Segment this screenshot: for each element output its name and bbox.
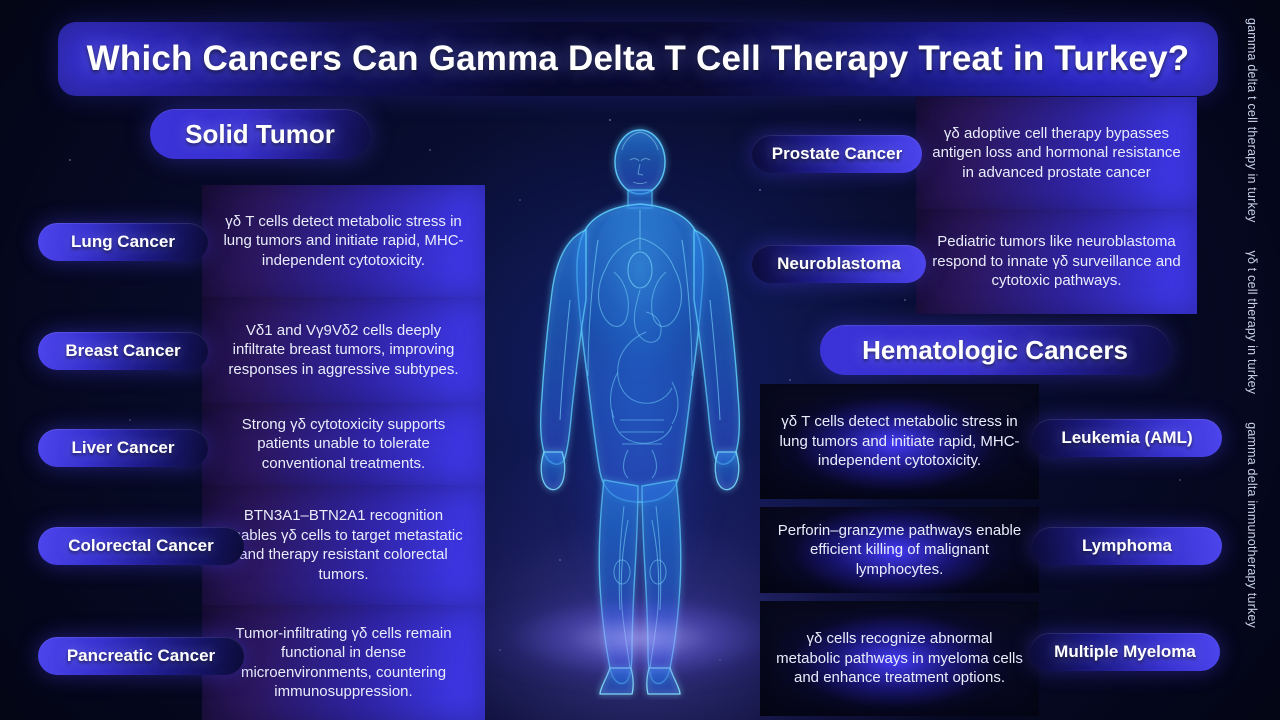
description-text: γδ adoptive cell therapy bypasses antige… bbox=[932, 124, 1181, 183]
cancer-type-pill[interactable]: Breast Cancer bbox=[38, 332, 208, 370]
right-keyword-rail: gamma delta t cell therapy in turkeyγδ t… bbox=[1250, 0, 1280, 720]
description-card: Vδ1 and Vγ9Vδ2 cells deeply infiltrate b… bbox=[202, 297, 485, 403]
cancer-type-pill[interactable]: Pancreatic Cancer bbox=[38, 637, 244, 675]
description-card: γδ adoptive cell therapy bypasses antige… bbox=[916, 97, 1197, 209]
description-card: Pediatric tumors like neuroblastoma resp… bbox=[916, 209, 1197, 314]
description-card: Perforin–granzyme pathways enable effici… bbox=[760, 507, 1039, 593]
left-keyword-rail: allogeneic therapyCAR-γδ T cellsIL-2 / I… bbox=[0, 0, 30, 720]
description-card: γδ T cells detect metabolic stress in lu… bbox=[202, 185, 485, 297]
description-text: γδ cells recognize abnormal metabolic pa… bbox=[776, 629, 1023, 688]
description-text: Pediatric tumors like neuroblastoma resp… bbox=[932, 232, 1181, 291]
right-keyword-item: gamma delta immunotherapy turkey bbox=[1245, 422, 1259, 628]
page-title: Which Cancers Can Gamma Delta T Cell The… bbox=[87, 39, 1190, 79]
cancer-type-pill[interactable]: Neuroblastoma bbox=[752, 245, 926, 283]
description-card: γδ T cells detect metabolic stress in lu… bbox=[760, 384, 1039, 499]
description-text: γδ T cells detect metabolic stress in lu… bbox=[776, 412, 1023, 471]
description-text: BTN3A1–BTN2A1 recognition enables γδ cel… bbox=[218, 506, 469, 584]
description-text: Perforin–granzyme pathways enable effici… bbox=[776, 521, 1023, 580]
cancer-type-pill[interactable]: Prostate Cancer bbox=[752, 135, 922, 173]
cancer-type-pill[interactable]: Leukemia (AML) bbox=[1032, 419, 1222, 457]
description-card: Strong γδ cytotoxicity supports patients… bbox=[202, 403, 485, 485]
description-text: Strong γδ cytotoxicity supports patients… bbox=[218, 415, 469, 474]
cancer-type-pill[interactable]: Liver Cancer bbox=[38, 429, 208, 467]
description-text: Vδ1 and Vγ9Vδ2 cells deeply infiltrate b… bbox=[218, 321, 469, 380]
right-keyword-item: γδ t cell therapy in turkey bbox=[1245, 251, 1259, 395]
section-header-hematologic: Hematologic Cancers bbox=[820, 325, 1170, 375]
cancer-type-pill[interactable]: Lymphoma bbox=[1032, 527, 1222, 565]
cancer-type-pill[interactable]: Lung Cancer bbox=[38, 223, 208, 261]
infographic-canvas: allogeneic therapyCAR-γδ T cellsIL-2 / I… bbox=[0, 0, 1280, 720]
description-card: γδ cells recognize abnormal metabolic pa… bbox=[760, 601, 1039, 716]
description-text: γδ T cells detect metabolic stress in lu… bbox=[218, 212, 469, 271]
right-keyword-item: gamma delta t cell therapy in turkey bbox=[1245, 18, 1259, 223]
description-card: BTN3A1–BTN2A1 recognition enables γδ cel… bbox=[202, 485, 485, 605]
cancer-type-pill[interactable]: Multiple Myeloma bbox=[1030, 633, 1220, 671]
human-figure-illustration bbox=[500, 120, 780, 700]
cancer-type-pill[interactable]: Colorectal Cancer bbox=[38, 527, 244, 565]
description-card: Tumor-infiltrating γδ cells remain funct… bbox=[202, 605, 485, 720]
section-header-solid-tumor: Solid Tumor bbox=[150, 109, 370, 159]
page-title-banner: Which Cancers Can Gamma Delta T Cell The… bbox=[58, 22, 1218, 96]
description-text: Tumor-infiltrating γδ cells remain funct… bbox=[218, 624, 469, 702]
